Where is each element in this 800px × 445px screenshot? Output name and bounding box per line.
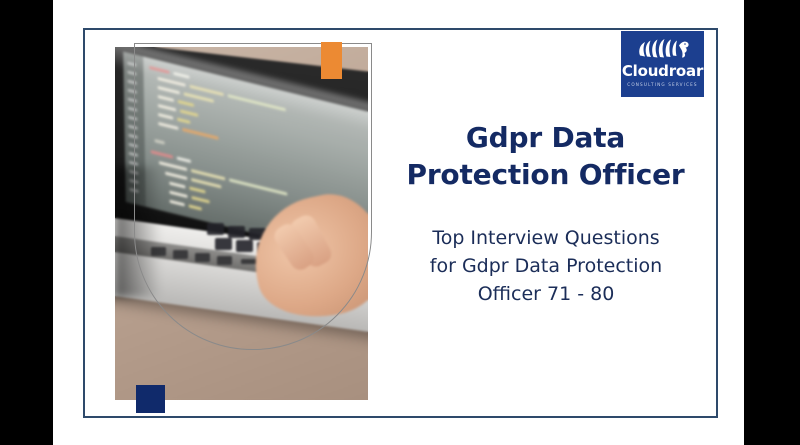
logo-tagline-text: CONSULTING SERVICES (627, 82, 698, 87)
slide-canvas: Cloudroar CONSULTING SERVICES Gdpr Data … (53, 0, 744, 445)
logo-brand-text: Cloudroar (622, 64, 703, 79)
navy-block-decoration (136, 385, 165, 413)
title-line-1: Gdpr Data (383, 120, 708, 157)
subtitle-line-1: Top Interview Questions (385, 224, 707, 252)
letterbox-left (0, 0, 53, 445)
title-line-2: Protection Officer (383, 157, 708, 194)
lion-mark-icon (633, 35, 693, 63)
orange-block-decoration (321, 42, 342, 79)
cloudroar-logo: Cloudroar CONSULTING SERVICES (621, 31, 704, 97)
page-subtitle: Top Interview Questions for Gdpr Data Pr… (385, 224, 707, 308)
slide-stage: Cloudroar CONSULTING SERVICES Gdpr Data … (0, 0, 800, 445)
page-title: Gdpr Data Protection Officer (383, 120, 708, 194)
subtitle-line-3: Officer 71 - 80 (385, 280, 707, 308)
subtitle-line-2: for Gdpr Data Protection (385, 252, 707, 280)
laptop-shadow (115, 167, 161, 297)
content-column: Cloudroar CONSULTING SERVICES Gdpr Data … (383, 28, 708, 400)
laptop-coding-photo (115, 47, 368, 400)
letterbox-right (744, 0, 800, 445)
